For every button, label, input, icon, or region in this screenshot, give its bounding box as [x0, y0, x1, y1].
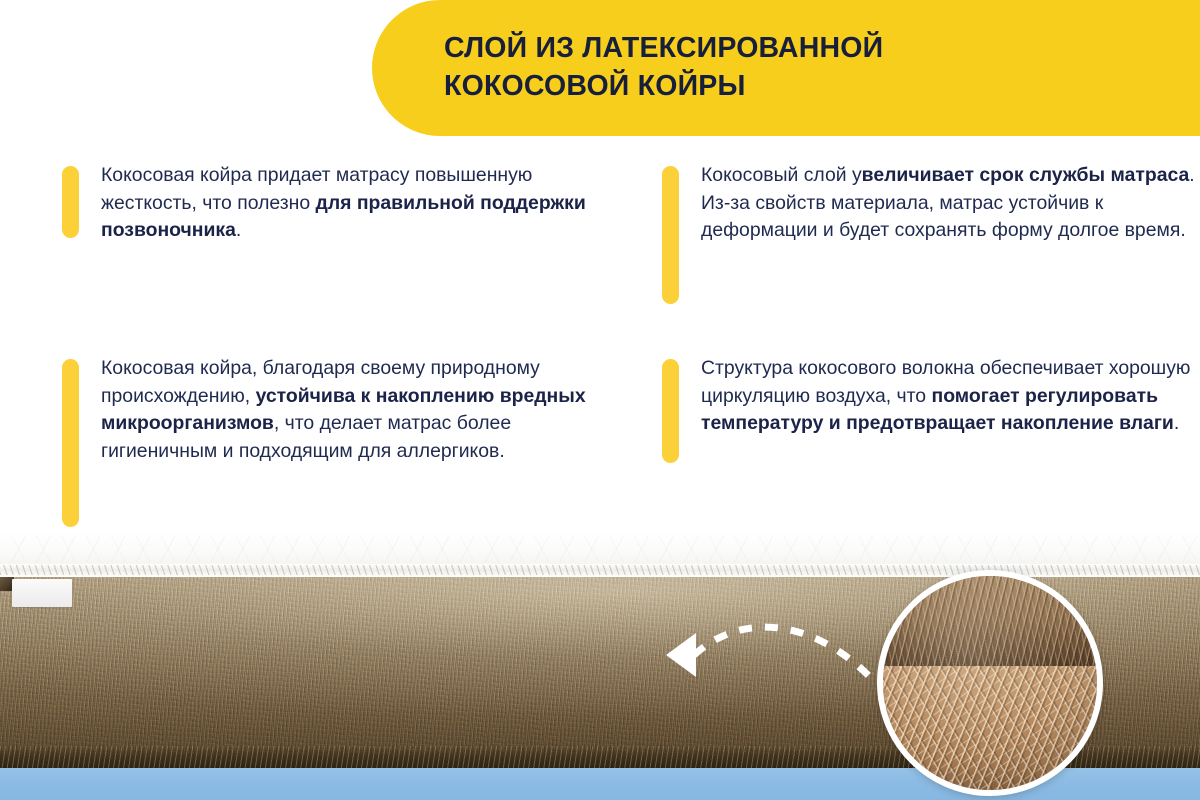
fact-text-rigidity: Кокосовая койра придает матрасу повышенн…: [101, 162, 607, 245]
fact-segment: .: [236, 219, 241, 241]
mattress-label-tag: [12, 579, 72, 607]
accent-bar-icon: [662, 359, 679, 463]
fact-segment-bold: величивает срок службы матраса: [862, 164, 1190, 186]
fact-item-hygiene: Кокосовая койра, благодаря своему природ…: [62, 355, 607, 527]
accent-bar-icon: [62, 359, 79, 527]
coir-fiber-closeup-circle: [877, 570, 1103, 796]
quilted-cover-layer: [0, 530, 1200, 568]
infographic-page: СЛОЙ ИЗ ЛАТЕКСИРОВАННОЙ КОКОСОВОЙ КОЙРЫ …: [0, 0, 1200, 800]
fact-text-hygiene: Кокосовая койра, благодаря своему природ…: [101, 355, 607, 465]
facts-grid: Кокосовая койра придает матрасу повышенн…: [0, 150, 1200, 550]
page-title: СЛОЙ ИЗ ЛАТЕКСИРОВАННОЙ КОКОСОВОЙ КОЙРЫ: [444, 30, 883, 106]
magnifier-vignette: [883, 576, 1097, 790]
fact-text-airflow: Структура кокосового волокна обеспечивае…: [701, 355, 1200, 438]
fact-segment: .: [1174, 412, 1179, 434]
title-banner: СЛОЙ ИЗ ЛАТЕКСИРОВАННОЙ КОКОСОВОЙ КОЙРЫ: [372, 0, 1200, 136]
accent-bar-icon: [62, 166, 79, 238]
fact-item-rigidity: Кокосовая койра придает матрасу повышенн…: [62, 162, 607, 245]
fact-item-durability: Кокосовый слой увеличивает срок службы м…: [662, 162, 1200, 304]
fact-segment: Кокосовый слой у: [701, 164, 862, 186]
fact-text-durability: Кокосовый слой увеличивает срок службы м…: [701, 162, 1200, 245]
accent-bar-icon: [662, 166, 679, 304]
fact-item-airflow: Структура кокосового волокна обеспечивае…: [662, 355, 1200, 463]
